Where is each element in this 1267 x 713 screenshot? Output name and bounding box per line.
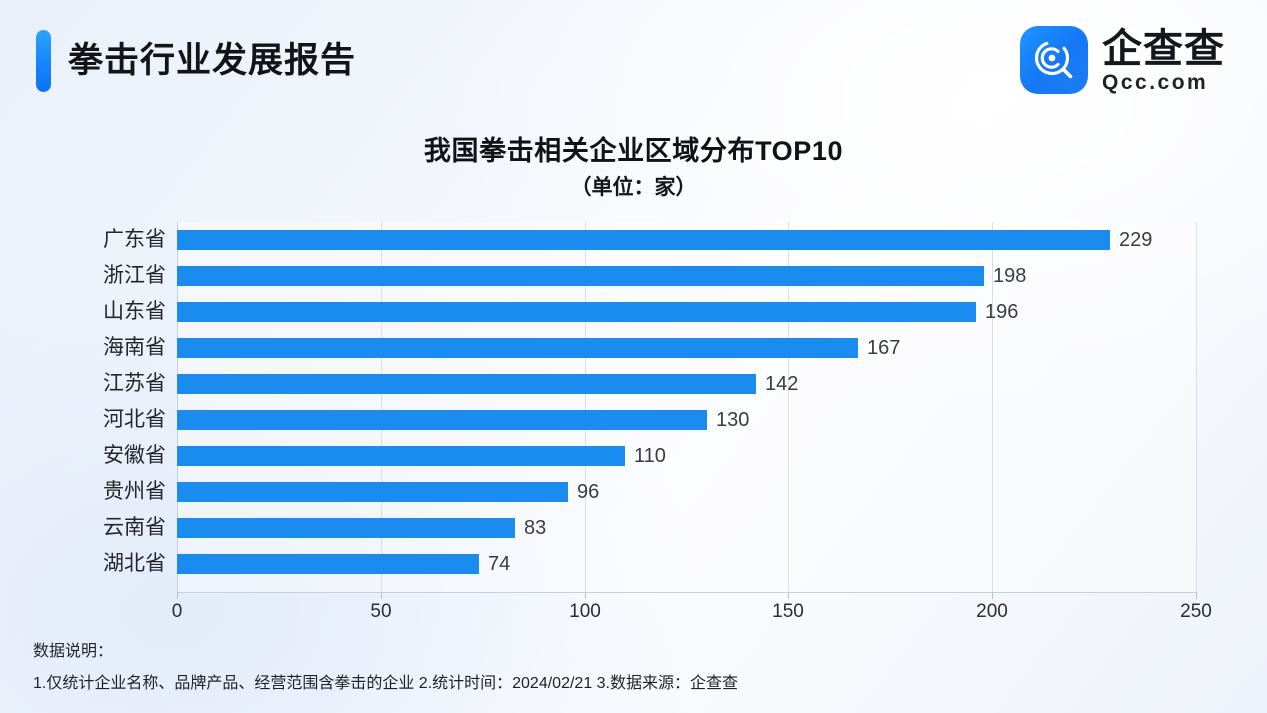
bar[interactable] [177, 266, 984, 286]
bar-row: 河北省130 [0, 402, 1267, 438]
bar-row: 云南省83 [0, 510, 1267, 546]
x-axis-tick-label: 150 [772, 601, 804, 623]
bar-row: 广东省229 [0, 222, 1267, 258]
bar[interactable] [177, 410, 707, 430]
report-page: 拳击行业发展报告 企查查 Qcc.com 我国拳击相关企业区域分布TOP10 （… [0, 0, 1267, 713]
bar-value-label: 74 [488, 552, 510, 576]
category-label: 湖北省 [103, 552, 166, 576]
category-label: 安徽省 [103, 444, 166, 468]
category-label: 贵州省 [103, 480, 166, 504]
x-axis-tickmark [585, 592, 586, 599]
category-label: 云南省 [103, 516, 166, 540]
category-label: 广东省 [103, 228, 166, 252]
x-axis-tickmark [788, 592, 789, 599]
bar-row: 江苏省142 [0, 366, 1267, 402]
bar-value-label: 196 [985, 300, 1018, 324]
footnote: 数据说明： 1.仅统计企业名称、品牌产品、经营范围含拳击的企业 2.统计时间：2… [33, 640, 1233, 696]
bar-row: 贵州省96 [0, 474, 1267, 510]
x-axis-tickmark [992, 592, 993, 599]
category-label: 山东省 [103, 300, 166, 324]
x-axis-tickmark [381, 592, 382, 599]
bar-value-label: 229 [1119, 228, 1152, 252]
category-label: 海南省 [103, 336, 166, 360]
bar[interactable] [177, 374, 756, 394]
bar-value-label: 167 [867, 336, 900, 360]
x-axis-tick-label: 50 [370, 601, 391, 623]
bar-value-label: 96 [577, 480, 599, 504]
bar-row: 安徽省110 [0, 438, 1267, 474]
bar-value-label: 198 [993, 264, 1026, 288]
bar[interactable] [177, 446, 625, 466]
footnote-heading: 数据说明： [33, 640, 1233, 664]
bar[interactable] [177, 482, 568, 502]
bar-row: 海南省167 [0, 330, 1267, 366]
bar[interactable] [177, 230, 1110, 250]
bar[interactable] [177, 338, 858, 358]
bar-value-label: 142 [765, 372, 798, 396]
x-axis-tick-label: 0 [172, 601, 183, 623]
bar-chart: 广东省229浙江省198山东省196海南省167江苏省142河北省130安徽省1… [0, 0, 1267, 713]
x-axis-tick-label: 250 [1180, 601, 1212, 623]
x-axis-tickmark [177, 592, 178, 599]
bar-row: 山东省196 [0, 294, 1267, 330]
bar-value-label: 130 [716, 408, 749, 432]
x-axis-line [177, 592, 1196, 593]
footnote-body: 1.仅统计企业名称、品牌产品、经营范围含拳击的企业 2.统计时间：2024/02… [33, 672, 1233, 696]
x-axis-tick-label: 100 [569, 601, 601, 623]
bar[interactable] [177, 302, 976, 322]
bar-row: 浙江省198 [0, 258, 1267, 294]
bar-value-label: 83 [524, 516, 546, 540]
bar[interactable] [177, 518, 515, 538]
category-label: 河北省 [103, 408, 166, 432]
bar-row: 湖北省74 [0, 546, 1267, 582]
bar[interactable] [177, 554, 479, 574]
x-axis-tickmark [1196, 592, 1197, 599]
x-axis-tick-label: 200 [976, 601, 1008, 623]
category-label: 江苏省 [103, 372, 166, 396]
category-label: 浙江省 [103, 264, 166, 288]
bar-value-label: 110 [634, 444, 666, 468]
